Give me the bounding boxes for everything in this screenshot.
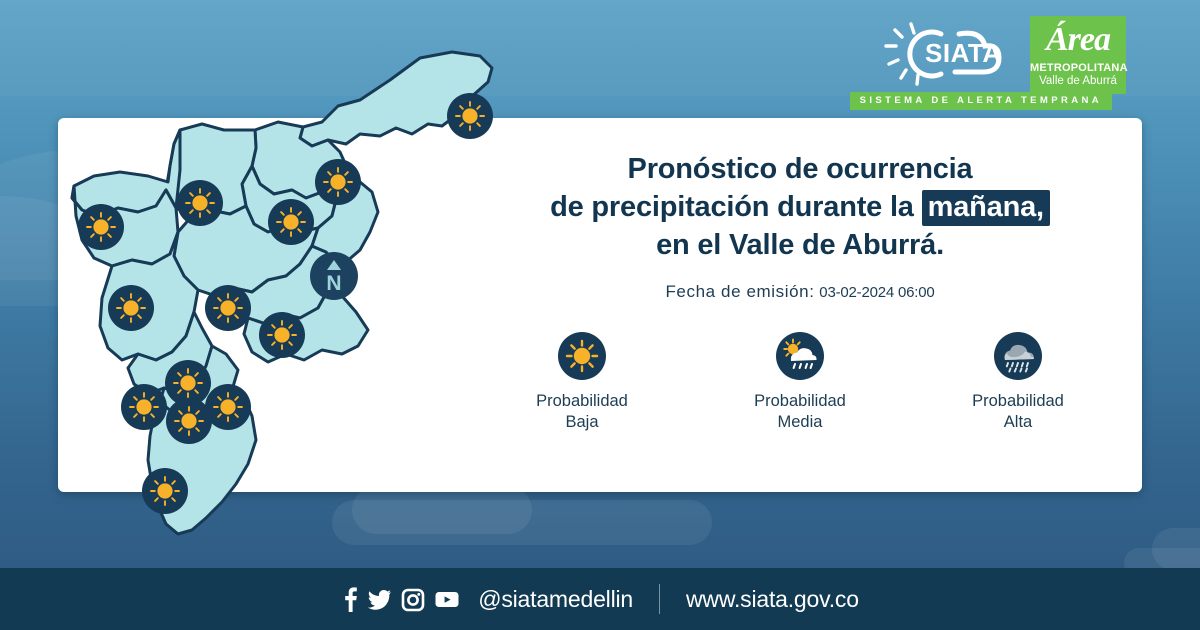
area-logo-line1: METROPOLITANA [1030,62,1126,74]
map-pin-barbosa[interactable] [447,93,493,139]
legend-baja-line2: Baja [512,412,652,433]
legend-label-alta: Probabilidad Alta [948,391,1088,433]
map-pin-caldas[interactable] [142,468,188,514]
emission-date-row: Fecha de emisión: 03-02-2024 06:00 [460,282,1140,302]
page-title: Pronóstico de ocurrencia de precipitació… [460,150,1140,264]
emission-date-label: Fecha de emisión: [665,282,814,301]
siata-sun-cloud-icon: SIATA [881,16,1016,94]
legend-item-alta: Probabilidad Alta [948,332,1088,433]
compass-label: N [310,273,358,294]
legend-media-line1: Probabilidad [730,391,870,412]
map-pin-san-pedro[interactable] [177,180,223,226]
legend-alta-line2: Alta [948,412,1088,433]
title-highlight-manana: mañana, [922,190,1050,226]
svg-text:SIATA: SIATA [925,38,1002,68]
youtube-icon[interactable] [434,586,460,612]
sun-icon-glyph [315,159,361,205]
legend-item-baja: Probabilidad Baja [512,332,652,433]
map-pin-medellin-norte[interactable] [108,285,154,331]
cloud-heavy-rain-icon [994,332,1042,380]
sun-icon-glyph [177,180,223,226]
area-metropolitana-logo: Área METROPOLITANA Valle de Aburrá [1030,16,1126,94]
sun-icon-glyph [447,93,493,139]
bg-cloud-bottom-left [332,500,712,545]
map-pin-belmira[interactable] [78,204,124,250]
sun-icon-glyph [268,199,314,245]
sun-cloud-rain-icon-glyph [776,332,824,380]
sun-icon-glyph [205,285,251,331]
sun-icon [558,332,606,380]
forecast-content: Pronóstico de ocurrencia de precipitació… [460,150,1140,433]
sun-icon-glyph [259,312,305,358]
footer-bar: @siatamedellin www.siata.gov.co [0,568,1200,630]
website-url[interactable]: www.siata.gov.co [686,586,859,613]
legend-alta-line1: Probabilidad [948,391,1088,412]
map-pin-sabaneta[interactable] [121,384,167,430]
facebook-icon[interactable] [341,586,359,612]
north-arrow-triangle [327,260,341,270]
sun-icon-glyph [142,468,188,514]
legend-baja-line1: Probabilidad [512,391,652,412]
map-pin-copacabana[interactable] [268,199,314,245]
map-pin-bello[interactable] [205,285,251,331]
map-pin-la-estrella[interactable] [166,398,212,444]
social-icons [341,586,460,612]
title-line-1: Pronóstico de ocurrencia [460,150,1140,188]
bg-cloud-bottom-right-puff [1152,528,1200,570]
area-logo-line2: Valle de Aburrá [1030,75,1126,87]
twitter-icon[interactable] [368,586,392,612]
north-arrow-icon: N [310,252,358,300]
sun-icon-glyph [78,204,124,250]
cloud-heavy-rain-icon-glyph [994,332,1042,380]
legend-item-media: Probabilidad Media [730,332,870,433]
siata-logo: SIATA [881,16,1016,94]
title-line-2-text: de precipitación durante la [550,191,914,223]
legend-label-media: Probabilidad Media [730,391,870,433]
sistema-alerta-temprana-band: SISTEMA DE ALERTA TEMPRANA [850,92,1112,110]
sun-cloud-rain-icon [776,332,824,380]
sun-icon-glyph [558,332,606,380]
footer-divider [659,584,660,614]
title-line-2: de precipitación durante la mañana, [460,188,1140,226]
sun-icon-glyph [121,384,167,430]
map-pin-girardota[interactable] [315,159,361,205]
map-pin-medellin-centro[interactable] [259,312,305,358]
instagram-icon[interactable] [401,586,425,612]
sun-icon-glyph [108,285,154,331]
area-logo-word: Área [1030,20,1126,60]
bg-cloud-bottom-left-puff [352,486,532,534]
emission-date-value: 03-02-2024 06:00 [819,284,934,301]
probability-legend: Probabilidad Baja [460,332,1140,433]
infographic-root: SIATA Área METROPOLITANA Valle de Aburrá… [0,0,1200,630]
legend-label-baja: Probabilidad Baja [512,391,652,433]
brand-logos: SIATA Área METROPOLITANA Valle de Aburrá [881,16,1126,94]
social-handle[interactable]: @siatamedellin [478,586,633,613]
legend-media-line2: Media [730,412,870,433]
sun-icon-glyph [166,398,212,444]
title-line-3: en el Valle de Aburrá. [460,226,1140,264]
